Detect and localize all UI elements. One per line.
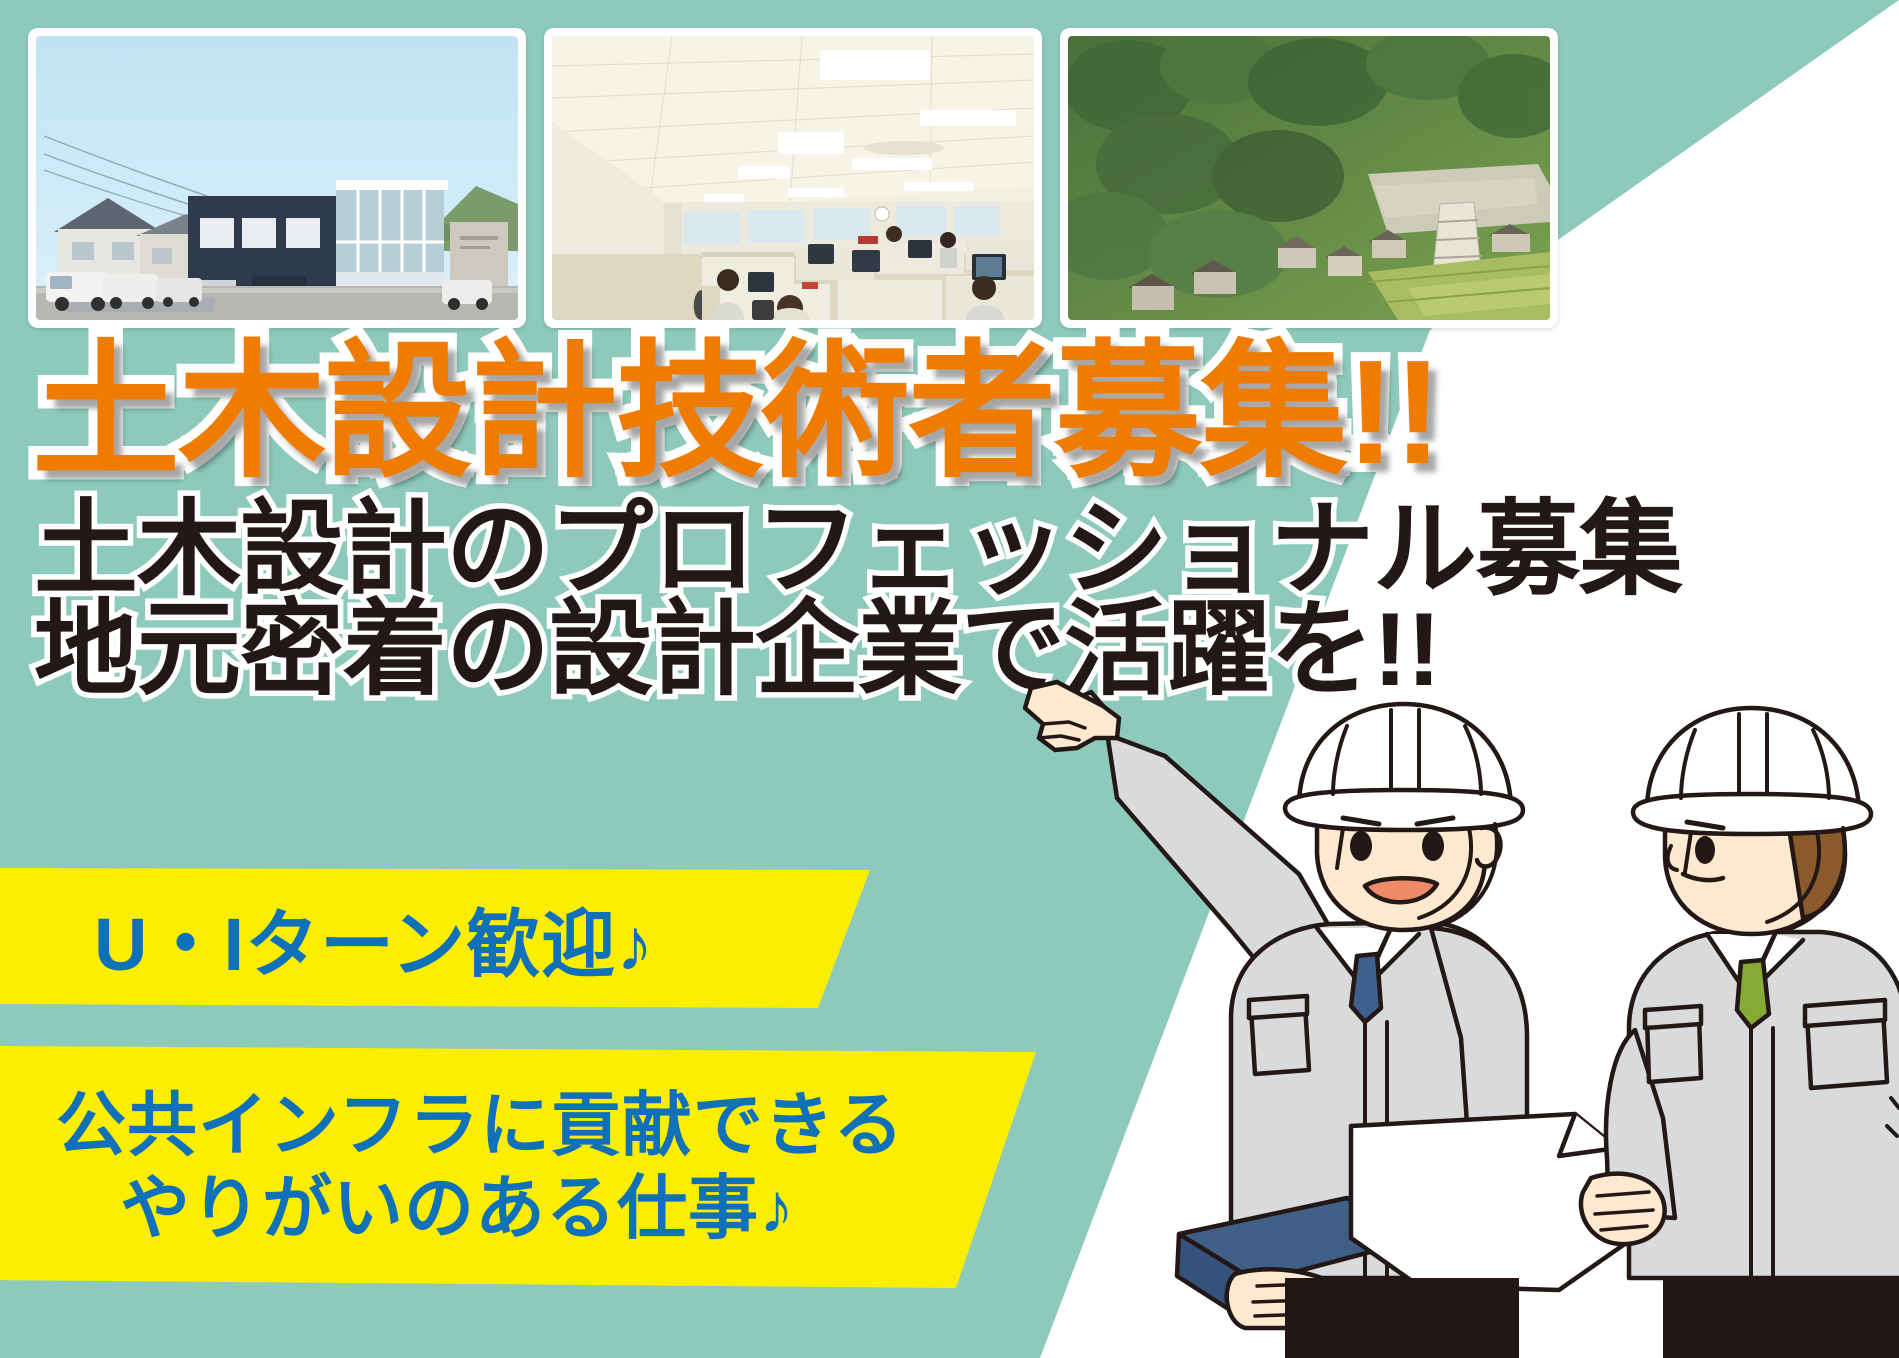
photo-office-interior (544, 28, 1042, 328)
ribbon-infra-label-line-2: やりがいのある仕事♪ (56, 1167, 795, 1250)
ribbon-uiturn-label: U・Iターン歓迎♪ (94, 885, 654, 992)
photo-office-exterior (28, 28, 526, 328)
page-title: 土木設計技術者募集!! (32, 338, 1441, 489)
recruitment-banner: 土木設計技術者募集!! 土木設計のプロフェッショナル募集 地元密着の設計企業で活… (0, 0, 1899, 1358)
ribbon-infra: 公共インフラに貢献できる やりがいのある仕事♪ (0, 1046, 1102, 1288)
ribbon-infra-label-line-1: 公共インフラに貢献できる (56, 1084, 905, 1167)
photo-strip (28, 28, 1558, 328)
ribbon-uiturn: U・Iターン歓迎♪ (0, 868, 974, 1008)
subheadline-line-1: 土木設計のプロフェッショナル募集 (34, 498, 1682, 602)
two-construction-workers-illustration (999, 678, 1899, 1358)
photo-construction-site (1060, 28, 1558, 328)
subheadline-line-2: 地元密着の設計企業で活躍を!! (34, 598, 1440, 702)
